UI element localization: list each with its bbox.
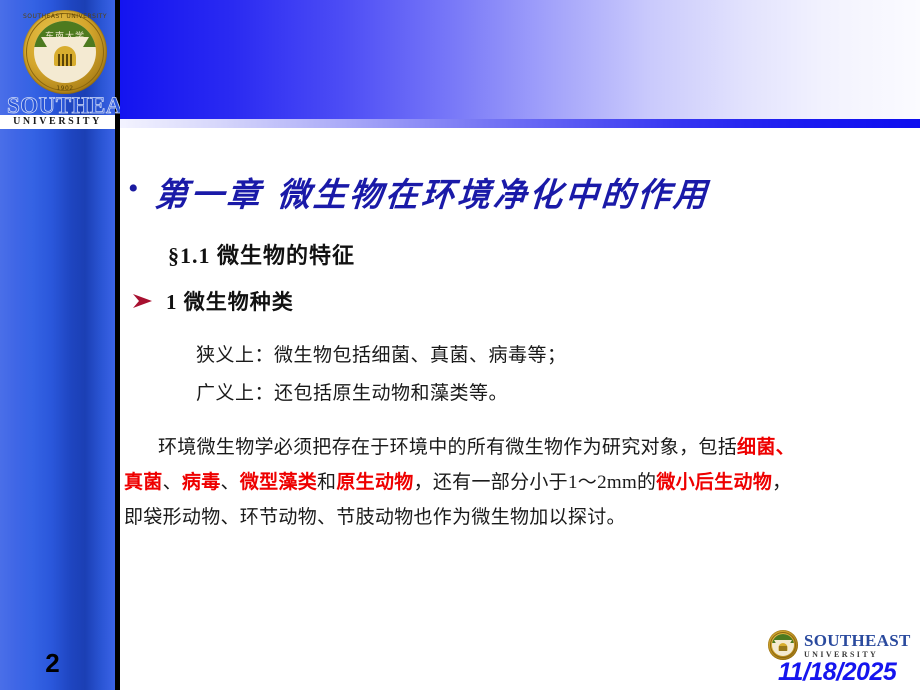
slide-title-row: • 第一章 微生物在环境净化中的作用 [128, 168, 918, 216]
plain-text-run: 、 [163, 472, 182, 493]
paragraph-line-2: 真菌、病毒、微型藻类和原生动物，还有一部分小于1～2mm的微小后生动物， [124, 465, 920, 500]
slide-content: • 第一章 微生物在环境净化中的作用 §1.1 微生物的特征 1 微生物种类 狭… [120, 128, 920, 690]
arrow-bullet-icon [132, 292, 154, 310]
university-seal-icon: SOUTHEAST UNIVERSITY 东南大学 1902 [23, 10, 107, 94]
footer-seal-inner [772, 634, 794, 656]
plain-text-run: ， [772, 472, 791, 493]
section-bullet-label: 1 微生物种类 [166, 286, 294, 316]
title-bullet-icon: • [128, 174, 139, 204]
plain-text-run: 、 [221, 472, 240, 493]
paragraph-line-1: 环境微生物学必须把存在于环境中的所有微生物作为研究对象，包括细菌、 [124, 430, 920, 465]
footer-date: 11/18/2025 [778, 658, 896, 687]
presentation-slide: SOUTHEAST UNIVERSITY 东南大学 1902 SOUTHEAST… [0, 0, 920, 690]
footer-seal-gate [779, 643, 788, 651]
footer-wordmark-southeast: SOUTHEAST [804, 632, 911, 649]
plain-text-run: 即袋形动物、环节动物、节肢动物也作为微生物加以探讨。 [124, 507, 626, 528]
paragraph-line-3: 即袋形动物、环节动物、节肢动物也作为微生物加以探讨。 [124, 500, 920, 535]
plain-text-run: 环境微生物学必须把存在于环境中的所有微生物作为研究对象，包括 [158, 437, 737, 458]
page-number: 2 [0, 648, 105, 679]
seal-arc-top-text: SOUTHEAST UNIVERSITY [23, 13, 107, 20]
body-paragraph: 环境微生物学必须把存在于环境中的所有微生物作为研究对象，包括细菌、 真菌、病毒、… [124, 430, 920, 535]
highlighted-term: 真菌 [124, 472, 163, 493]
footer-seal-icon [768, 630, 798, 660]
definition-line-broad: 广义上：还包括原生动物和藻类等。 [196, 378, 508, 405]
footer-logo: SOUTHEAST UNIVERSITY [768, 628, 920, 662]
highlighted-term: 、 [776, 437, 795, 458]
plain-text-run: ，还有一部分小于1～2mm的 [414, 472, 657, 493]
section-subtitle: §1.1 微生物的特征 [168, 238, 355, 270]
definition-line-narrow: 狭义上：微生物包括细菌、真菌、病毒等； [196, 340, 567, 367]
header-gradient-band [120, 0, 920, 119]
header-accent-stripe [120, 119, 920, 128]
highlighted-term: 病毒 [182, 472, 221, 493]
sidebar-wordmark-university: UNIVERSITY [0, 115, 115, 129]
highlighted-term: 细菌 [737, 437, 776, 458]
highlighted-term: 原生动物 [336, 472, 413, 493]
footer-wordmark: SOUTHEAST UNIVERSITY [804, 632, 911, 659]
highlighted-term: 微型藻类 [240, 472, 317, 493]
seal-gate-emblem [54, 46, 76, 66]
page-title: 第一章 微生物在环境净化中的作用 [153, 168, 711, 216]
seal-inner-disc: 东南大学 [34, 21, 96, 83]
plain-text-run: 和 [317, 472, 336, 493]
section-bullet-row: 1 微生物种类 [132, 286, 294, 316]
highlighted-term: 微小后生动物 [656, 472, 772, 493]
seal-arc-bottom-text: 1902 [23, 85, 107, 92]
sidebar-wordmark-southeast: SOUTHEAST [7, 94, 115, 117]
